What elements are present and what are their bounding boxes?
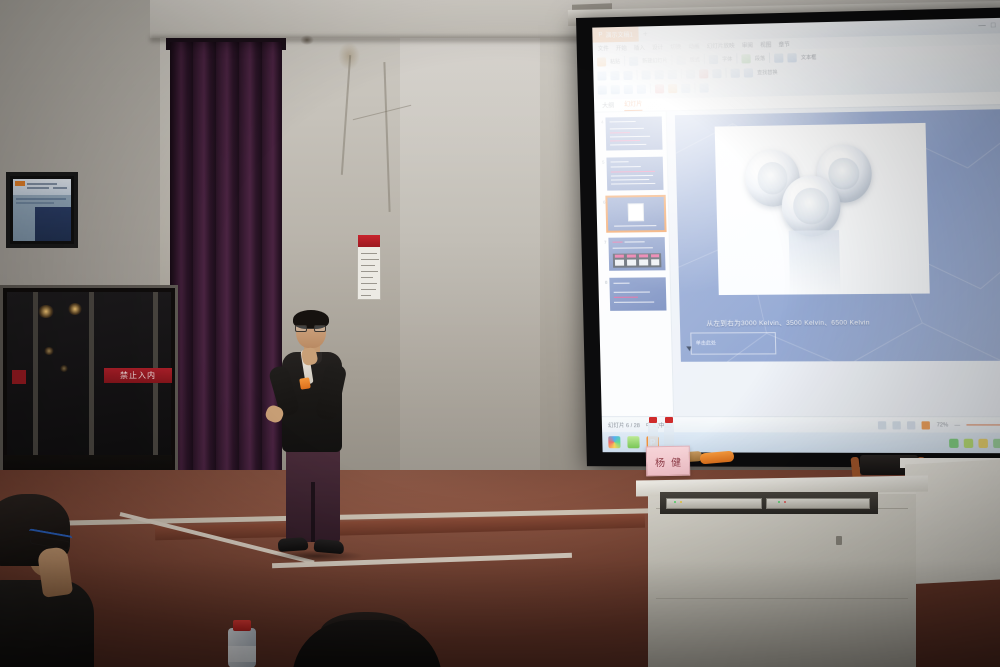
new-slide-icon[interactable] <box>629 56 638 65</box>
wall-left-panel <box>0 0 160 300</box>
wps-ribbon: 粘贴 新建幻灯片 版式 字体 段落 文本框 <box>593 44 1000 99</box>
shield-icon[interactable] <box>993 438 1000 447</box>
bottle-cap <box>665 417 673 423</box>
lectern-cabinet <box>648 490 916 667</box>
thumbnail-item[interactable]: 7 <box>601 237 665 271</box>
wps-logo-icon: P <box>598 32 602 38</box>
name-card-char-1: 杨 <box>655 454 665 469</box>
lamp-beam <box>788 230 840 295</box>
ribbon-label-font: 字体 <box>722 55 732 62</box>
bottle-cap <box>233 620 251 631</box>
system-tray[interactable] <box>949 438 1000 447</box>
lectern-lock[interactable] <box>836 536 842 545</box>
view-reading-icon[interactable] <box>907 421 916 429</box>
shape-rect-icon[interactable] <box>598 85 607 94</box>
lecture-hall-photo: 禁止入内 P 演示文稿1 + — □ ✕ <box>0 0 1000 667</box>
maximize-button[interactable]: □ <box>991 22 996 30</box>
tab-outline[interactable]: 大纲 <box>602 100 614 111</box>
name-card-char-2: 健 <box>671 453 681 468</box>
window-controls: — □ ✕ <box>978 21 1000 30</box>
italic-icon[interactable] <box>610 71 619 80</box>
effects-icon[interactable] <box>681 83 690 92</box>
ribbon-label-paste: 粘贴 <box>610 58 620 65</box>
presenter-shoe-left <box>278 537 309 552</box>
thumbnail-item[interactable]: 4 <box>598 116 662 150</box>
wps-status-bar: 幻灯片 6 / 28 中文(中国) 72% — <box>602 416 1000 433</box>
corridor-light <box>68 303 82 315</box>
foreground-water-bottle <box>228 620 256 667</box>
shape-line-icon[interactable] <box>637 84 646 93</box>
network-icon[interactable] <box>964 438 974 447</box>
thumbnail-image <box>628 203 645 221</box>
align-left-icon[interactable] <box>641 70 650 79</box>
bottle-cap <box>649 417 657 423</box>
paragraph-icon[interactable] <box>741 54 750 63</box>
line-spacing-icon[interactable] <box>686 69 695 78</box>
thumbnail-item[interactable]: 5 <box>599 157 663 191</box>
shape-arrow-icon[interactable] <box>624 84 633 93</box>
thumbnail-number: 6 <box>600 198 605 205</box>
lamp-3500k <box>781 175 842 237</box>
menu-item-slideshow[interactable]: 幻灯片放映 <box>707 41 735 50</box>
align-center-icon[interactable] <box>655 70 664 79</box>
paste-icon[interactable] <box>597 57 606 66</box>
textbox-icon[interactable] <box>787 53 796 62</box>
monitor-ribbon <box>13 179 71 195</box>
menu-item-section[interactable]: 章节 <box>778 40 789 48</box>
projection-screen: P 演示文稿1 + — □ ✕ 文件 开始 插入 设计 切换 动画 幻灯片放映 <box>576 7 1000 467</box>
menu-item-file[interactable]: 文件 <box>598 44 609 52</box>
document-tab[interactable]: P 演示文稿1 <box>592 27 639 43</box>
thumbnail-number: 7 <box>601 238 606 245</box>
wall-mark <box>300 35 314 45</box>
font-icon[interactable] <box>709 54 718 63</box>
thumbnail-item[interactable]: 8 <box>602 277 666 311</box>
presenter <box>262 312 366 574</box>
slide-note-placeholder[interactable]: 单击此处 <box>690 332 776 355</box>
presenter-glasses-icon <box>295 325 327 332</box>
audience-member-left <box>0 494 100 667</box>
view-sorter-icon[interactable] <box>893 421 902 429</box>
ribbon-label-find: 查找替换 <box>757 68 778 76</box>
corridor-light <box>60 365 68 372</box>
fill-color-icon[interactable] <box>655 84 664 93</box>
ceiling-beam <box>150 0 610 38</box>
layout-icon[interactable] <box>676 55 685 64</box>
thumbnail-number: 5 <box>599 158 604 165</box>
thumbnail-preview[interactable] <box>605 116 662 150</box>
shape-icon[interactable] <box>774 53 783 62</box>
minimize-button[interactable]: — <box>978 22 986 30</box>
slide-note-label: 单击此处 <box>696 340 716 347</box>
projected-desktop: P 演示文稿1 + — □ ✕ 文件 开始 插入 设计 切换 动画 幻灯片放映 <box>592 18 1000 454</box>
door-small-sign <box>12 370 26 384</box>
ribbon-label-new-slide: 新建幻灯片 <box>642 57 667 65</box>
bullet-list-icon[interactable] <box>668 69 677 78</box>
rack-device <box>666 498 762 509</box>
monitor-slide <box>35 207 71 241</box>
placard-header <box>358 235 380 247</box>
menu-item-home[interactable]: 开始 <box>616 43 627 51</box>
slide-caption-text: 从左到右为3000 Kelvin、3500 Kelvin、6500 Kelvin <box>706 316 870 327</box>
microphone-grip <box>299 377 311 389</box>
wall-light-column <box>400 0 540 520</box>
highlight-icon[interactable] <box>712 68 721 77</box>
thumbnail-preview[interactable] <box>606 157 663 191</box>
slide-thumbnail-pane[interactable]: 4 5 <box>594 111 674 416</box>
thumbnail-preview[interactable] <box>608 237 665 271</box>
outline-color-icon[interactable] <box>668 83 677 92</box>
green-app-icon[interactable] <box>627 436 639 448</box>
volume-icon[interactable] <box>949 438 959 447</box>
menu-item-animation[interactable]: 动画 <box>688 42 699 50</box>
door-sign: 禁止入内 <box>104 368 172 383</box>
lectern-equipment-bay <box>660 492 878 514</box>
audience-hand <box>37 546 73 598</box>
thumbnail-preview[interactable] <box>607 197 664 231</box>
bold-icon[interactable] <box>597 71 606 80</box>
slide-editing-stage[interactable]: 从左到右为3000 Kelvin、3500 Kelvin、6500 Kelvin… <box>667 105 1000 416</box>
zoom-level-label: 72% <box>937 422 949 428</box>
monitor-wps-tab <box>15 181 25 186</box>
thumbnail-number: 8 <box>602 278 607 285</box>
view-slideshow-icon[interactable] <box>922 421 931 429</box>
bottle-label <box>228 646 256 662</box>
corridor-light <box>44 347 54 355</box>
presenter-leg-gap <box>311 482 315 542</box>
wall-placard <box>357 234 381 300</box>
view-normal-icon[interactable] <box>878 421 886 429</box>
menu-item-view[interactable]: 视图 <box>760 40 771 48</box>
battery-icon[interactable] <box>978 438 988 447</box>
font-color-icon[interactable] <box>699 69 708 78</box>
arrange-icon[interactable] <box>730 68 739 77</box>
slide-image-lamps <box>715 123 931 295</box>
current-slide[interactable]: 从左到右为3000 Kelvin、3500 Kelvin、6500 Kelvin… <box>675 109 1000 362</box>
thumbnail-preview[interactable] <box>609 277 666 311</box>
shape-circle-icon[interactable] <box>611 85 620 94</box>
tab-slides[interactable]: 幻灯片 <box>624 99 642 111</box>
presenter-shoe-right <box>313 539 344 555</box>
rack-device <box>766 498 870 509</box>
new-tab-button[interactable]: + <box>643 29 648 38</box>
menu-item-design[interactable]: 设计 <box>652 43 663 51</box>
browser-icon[interactable] <box>608 436 620 448</box>
ribbon-label-textbox: 文本框 <box>801 53 817 60</box>
zoom-out-button[interactable]: — <box>954 422 960 428</box>
ribbon-label-paragraph: 段落 <box>755 54 765 61</box>
monitor-screen <box>13 179 71 241</box>
corridor-light <box>38 305 54 318</box>
wall-confidence-monitor <box>6 172 78 248</box>
document-tab-label: 演示文稿1 <box>605 30 633 40</box>
menu-item-review[interactable]: 审阅 <box>742 40 753 48</box>
zoom-slider[interactable] <box>966 424 1000 426</box>
select-icon[interactable] <box>699 83 708 92</box>
menu-item-insert[interactable]: 插入 <box>634 43 645 51</box>
ribbon-label-layout: 版式 <box>690 56 700 63</box>
thumbnail-number: 4 <box>598 118 603 125</box>
thumbnail-item-selected[interactable]: 6 <box>600 197 664 231</box>
quick-styles-icon[interactable] <box>744 68 753 77</box>
menu-item-transition[interactable]: 切换 <box>670 42 681 50</box>
status-slide-indicator: 幻灯片 6 / 28 <box>608 421 640 429</box>
underline-icon[interactable] <box>623 70 632 79</box>
name-card: 杨 健 <box>646 446 691 477</box>
